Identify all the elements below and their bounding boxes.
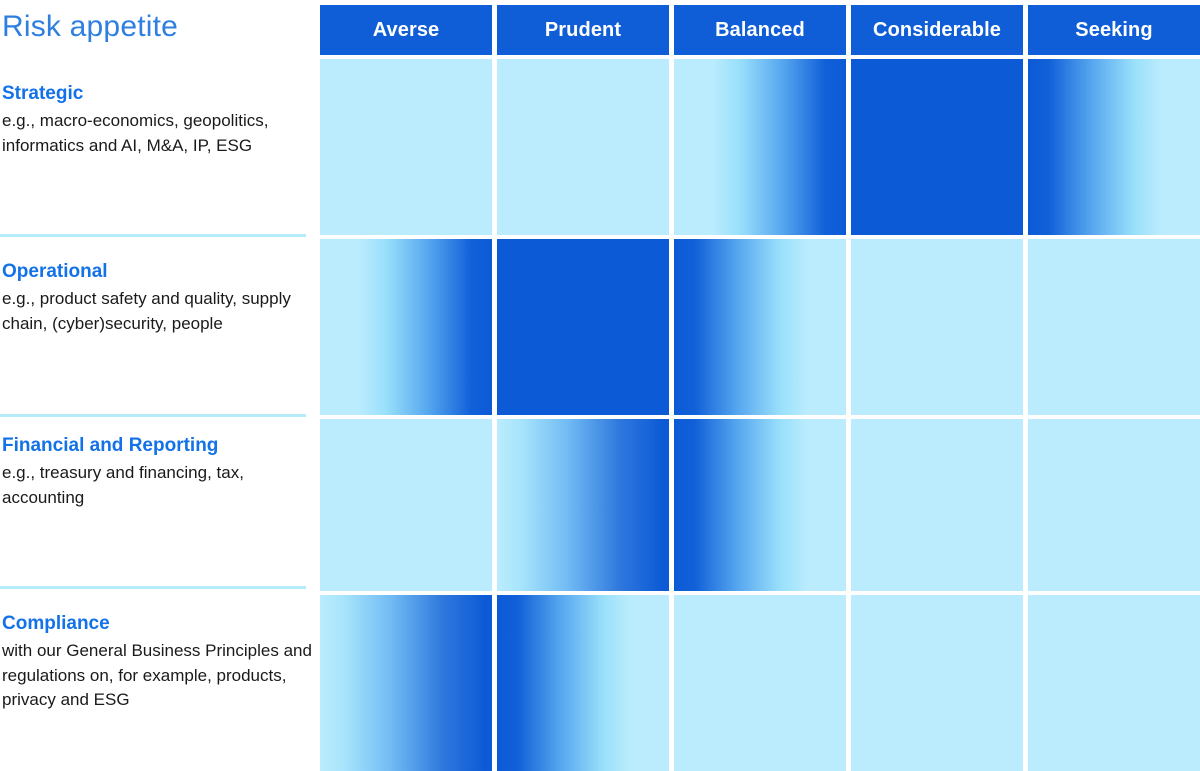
row-label-compliance: Compliance with our General Business Pri… — [2, 612, 314, 713]
cell-compliance-prudent[interactable] — [497, 595, 669, 771]
cell-operational-prudent[interactable] — [497, 239, 669, 415]
risk-appetite-matrix: Risk appetite Strategic e.g., macro-econ… — [0, 0, 1200, 771]
cell-operational-balanced[interactable] — [674, 239, 846, 415]
row-description: e.g., treasury and financing, tax, accou… — [2, 461, 314, 510]
cell-strategic-seeking[interactable] — [1028, 59, 1200, 235]
cell-compliance-considerable[interactable] — [851, 595, 1023, 771]
page-title: Risk appetite — [2, 8, 178, 46]
row-label-operational: Operational e.g., product safety and qua… — [2, 260, 314, 336]
grid-body — [320, 59, 1200, 771]
row-separator-2 — [0, 414, 306, 417]
cell-strategic-averse[interactable] — [320, 59, 492, 235]
row-description: e.g., macro-economics, geopolitics, info… — [2, 109, 314, 158]
column-header-considerable[interactable]: Considerable — [851, 5, 1023, 55]
cell-compliance-averse[interactable] — [320, 595, 492, 771]
cell-financial-balanced[interactable] — [674, 419, 846, 591]
row-title: Strategic — [2, 82, 314, 106]
column-header-prudent[interactable]: Prudent — [497, 5, 669, 55]
grid-row-strategic — [320, 59, 1200, 235]
cell-financial-averse[interactable] — [320, 419, 492, 591]
column-header-averse[interactable]: Averse — [320, 5, 492, 55]
row-description: with our General Business Principles and… — [2, 639, 314, 713]
cell-operational-considerable[interactable] — [851, 239, 1023, 415]
grid-row-operational — [320, 239, 1200, 415]
cell-strategic-considerable[interactable] — [851, 59, 1023, 235]
cell-strategic-balanced[interactable] — [674, 59, 846, 235]
row-title: Operational — [2, 260, 314, 284]
row-separator-1 — [0, 234, 306, 237]
row-label-strategic: Strategic e.g., macro-economics, geopoli… — [2, 82, 314, 158]
cell-operational-averse[interactable] — [320, 239, 492, 415]
cell-operational-seeking[interactable] — [1028, 239, 1200, 415]
row-title: Financial and Reporting — [2, 434, 314, 458]
row-label-financial-and-reporting: Financial and Reporting e.g., treasury a… — [2, 434, 314, 510]
risk-category-label-column: Risk appetite Strategic e.g., macro-econ… — [0, 0, 320, 771]
row-separator-3 — [0, 586, 306, 589]
row-description: e.g., product safety and quality, supply… — [2, 287, 314, 336]
cell-financial-prudent[interactable] — [497, 419, 669, 591]
risk-appetite-grid: Averse Prudent Balanced Considerable See… — [320, 0, 1200, 771]
cell-compliance-balanced[interactable] — [674, 595, 846, 771]
column-header-row: Averse Prudent Balanced Considerable See… — [320, 5, 1200, 55]
row-title: Compliance — [2, 612, 314, 636]
column-header-balanced[interactable]: Balanced — [674, 5, 846, 55]
grid-row-financial-and-reporting — [320, 419, 1200, 591]
column-header-seeking[interactable]: Seeking — [1028, 5, 1200, 55]
cell-strategic-prudent[interactable] — [497, 59, 669, 235]
cell-financial-considerable[interactable] — [851, 419, 1023, 591]
cell-financial-seeking[interactable] — [1028, 419, 1200, 591]
cell-compliance-seeking[interactable] — [1028, 595, 1200, 771]
grid-row-compliance — [320, 595, 1200, 771]
